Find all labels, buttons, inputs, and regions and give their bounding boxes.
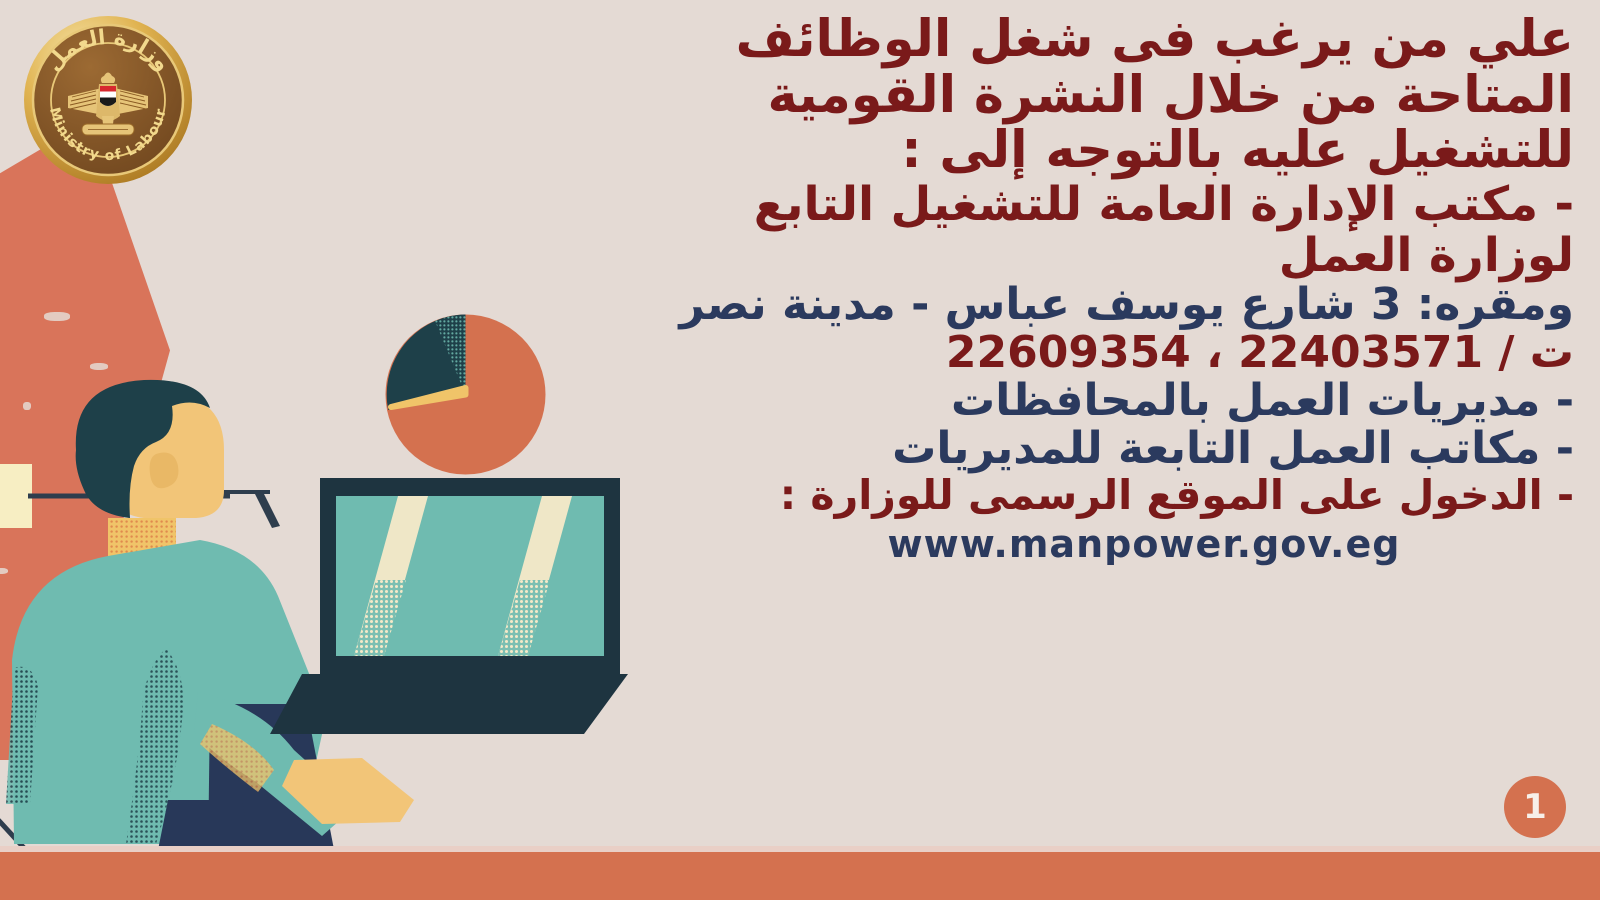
desk-support — [254, 490, 280, 528]
text-line-1: علي من يرغب فى شغل الوظائف — [644, 12, 1574, 68]
man-at-laptop-illustration — [0, 330, 640, 860]
text-line-6-address: ومقره: 3 شارع يوسف عباس - مدينة نصر — [644, 281, 1574, 329]
text-line-8-directorates: - مديريات العمل بالمحافظات — [644, 377, 1574, 425]
text-line-4-office: - مكتب الإدارة العامة للتشغيل التابع — [644, 179, 1574, 230]
website-row: www.manpower.gov.eg — [644, 518, 1574, 565]
text-line-9-offices: - مكاتب العمل التابعة للمديريات — [644, 425, 1574, 473]
text-line-3: للتشغيل عليه بالتوجه إلى : — [644, 123, 1574, 179]
egypt-flag-shield — [100, 86, 116, 106]
text-line-10-website-label: - الدخول على الموقع الرسمى للوزارة : — [644, 473, 1574, 518]
text-line-7-phone: ت / 22403571 ، 22609354 — [644, 329, 1574, 377]
poster-root: وزارة العمل Ministry of Labour — [0, 0, 1600, 900]
laptop — [270, 478, 628, 734]
text-line-2: المتاحة من خلال النشرة القومية — [644, 68, 1574, 124]
page-number-badge: 1 — [1504, 776, 1566, 838]
ministry-seal: وزارة العمل Ministry of Labour — [22, 14, 194, 186]
poster-text-block: علي من يرغب فى شغل الوظائف المتاحة من خل… — [644, 12, 1574, 565]
website-url[interactable]: www.manpower.gov.eg — [888, 522, 1401, 566]
bottom-band — [0, 852, 1600, 900]
laptop-base — [270, 674, 628, 734]
text-line-5-ministry: لوزارة العمل — [644, 230, 1574, 281]
pale-yellow-square — [0, 464, 32, 528]
